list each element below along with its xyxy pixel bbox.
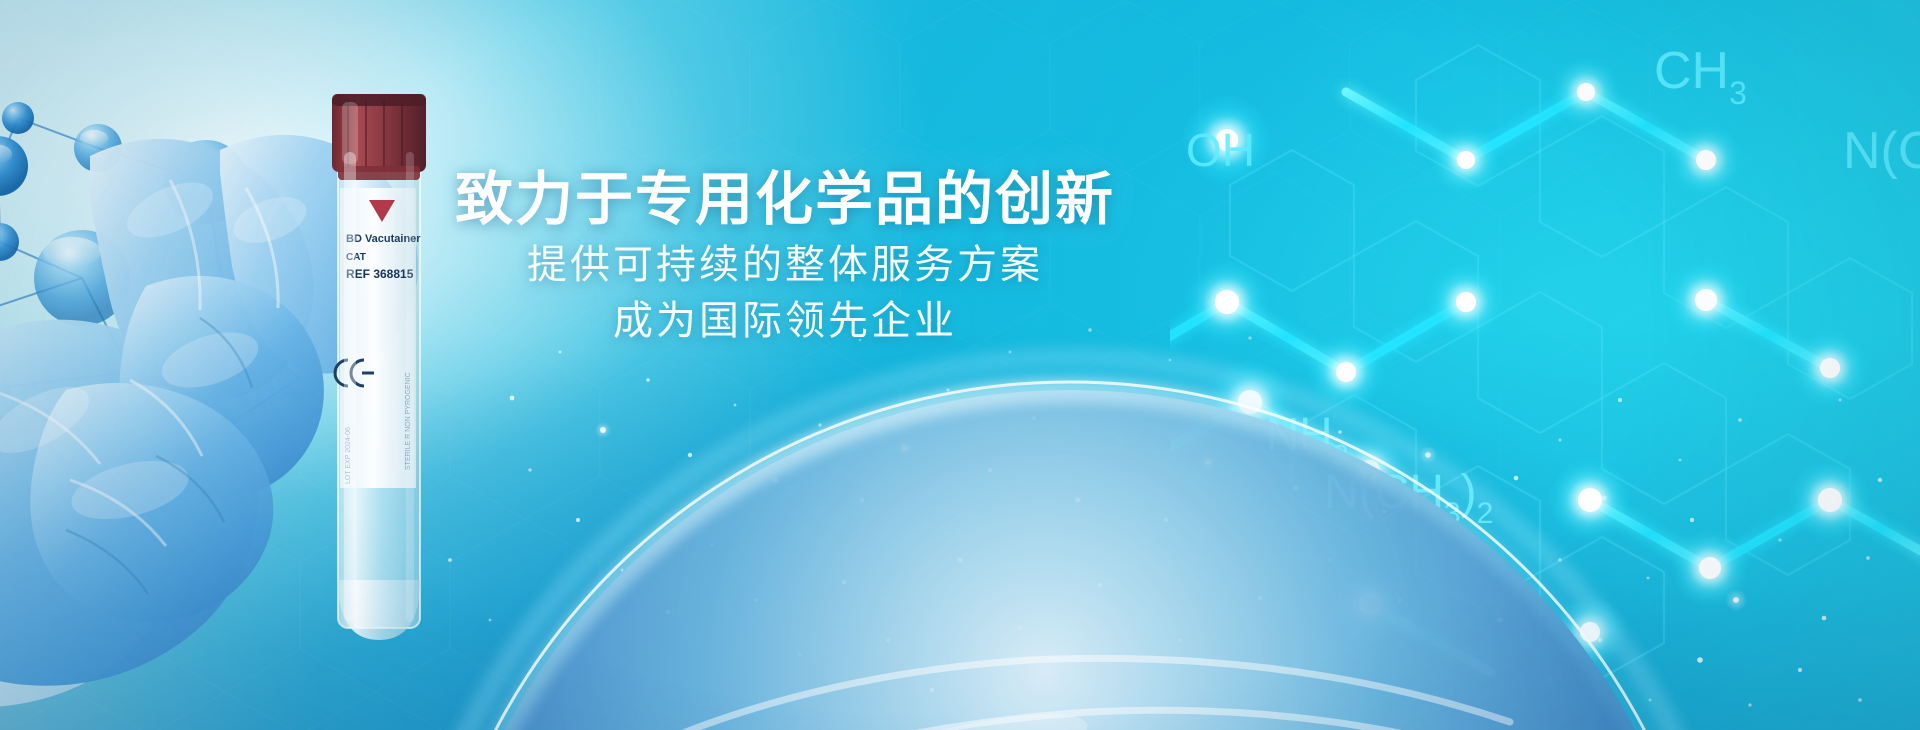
tube-ref-text: REF 368815 <box>346 267 414 281</box>
label-nch-top: N(CH <box>1843 122 1920 180</box>
gloved-hand-holding-test-tube: BD Vacutainer CAT REF 368815 STERILE R N… <box>0 60 490 730</box>
hero-banner: CH3 OH N(CH NH2 N(CH3)2 <box>0 0 1920 730</box>
label-ch3: CH3 <box>1654 42 1747 111</box>
earth-globe <box>330 330 1810 730</box>
label-oh: OH <box>1186 124 1255 176</box>
test-tube: BD Vacutainer CAT REF 368815 STERILE R N… <box>332 94 426 640</box>
